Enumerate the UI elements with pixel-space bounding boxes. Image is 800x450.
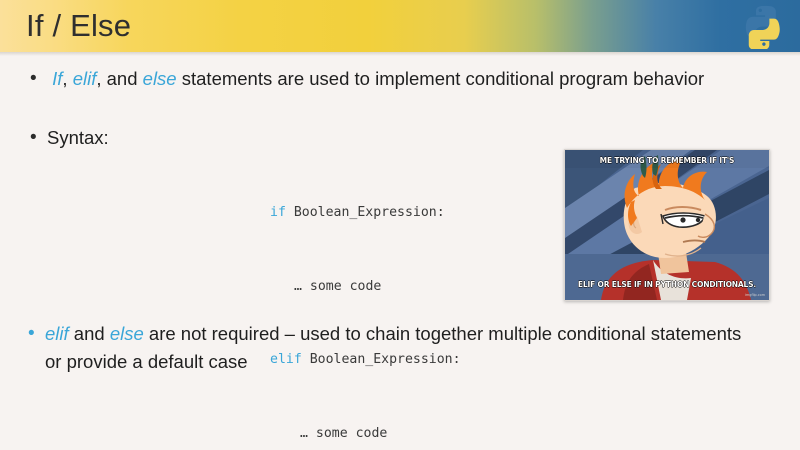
bullet-1-sep-1: ,	[62, 68, 72, 89]
bullet-text-3: elif and else are not required – used to…	[45, 320, 758, 376]
bullet-3-tail: are not required – used to chain togethe…	[45, 323, 741, 372]
code-line-1: if Boolean_Expression:	[270, 201, 461, 226]
fry-meme-illustration	[565, 150, 769, 300]
bullet-1-sep-2: , and	[96, 68, 142, 89]
bullet-text-2: Syntax:	[47, 124, 109, 152]
bullet-1-tail: statements are used to implement conditi…	[177, 68, 705, 89]
code-rest-4: … some code	[300, 426, 387, 441]
bullet-item-2: • Syntax:	[30, 124, 330, 152]
keyword-elif: elif	[45, 323, 69, 344]
bullet-marker: •	[30, 124, 47, 152]
meme-caption-top: ME TRYING TO REMEMBER IF IT'S	[573, 155, 761, 165]
code-keyword-if: if	[270, 205, 286, 220]
keyword-if: If	[52, 68, 62, 89]
bullet-item-3: • elif and else are not required – used …	[28, 320, 758, 376]
page-title: If / Else	[26, 7, 131, 45]
keyword-else: else	[110, 323, 144, 344]
bullet-marker: •	[30, 65, 47, 93]
code-rest-2: … some code	[294, 279, 381, 294]
code-line-4: … some code	[270, 422, 461, 447]
bullet-3-sep-1: and	[69, 323, 110, 344]
code-block: if Boolean_Expression: … some code elif …	[270, 152, 461, 450]
keyword-else: else	[143, 68, 177, 89]
keyword-elif: elif	[73, 68, 97, 89]
bullet-text-1: If, elif, and else statements are used t…	[47, 65, 704, 93]
meme-watermark: imgflip.com	[745, 293, 765, 297]
code-line-2: … some code	[270, 275, 461, 300]
bullet-item-1: • If, elif, and else statements are used…	[30, 65, 750, 93]
header-shadow	[0, 52, 800, 56]
meme-image: ME TRYING TO REMEMBER IF IT'S ELIF OR EL…	[564, 149, 770, 301]
meme-caption-bottom: ELIF OR ELSE IF IN PYTHON CONDITIONALS.	[573, 279, 761, 289]
python-logo-icon	[742, 3, 788, 49]
code-rest-1: Boolean_Expression:	[286, 205, 445, 220]
bullet-marker: •	[28, 320, 45, 348]
slide: If / Else • If, elif, and else statement…	[0, 0, 800, 450]
